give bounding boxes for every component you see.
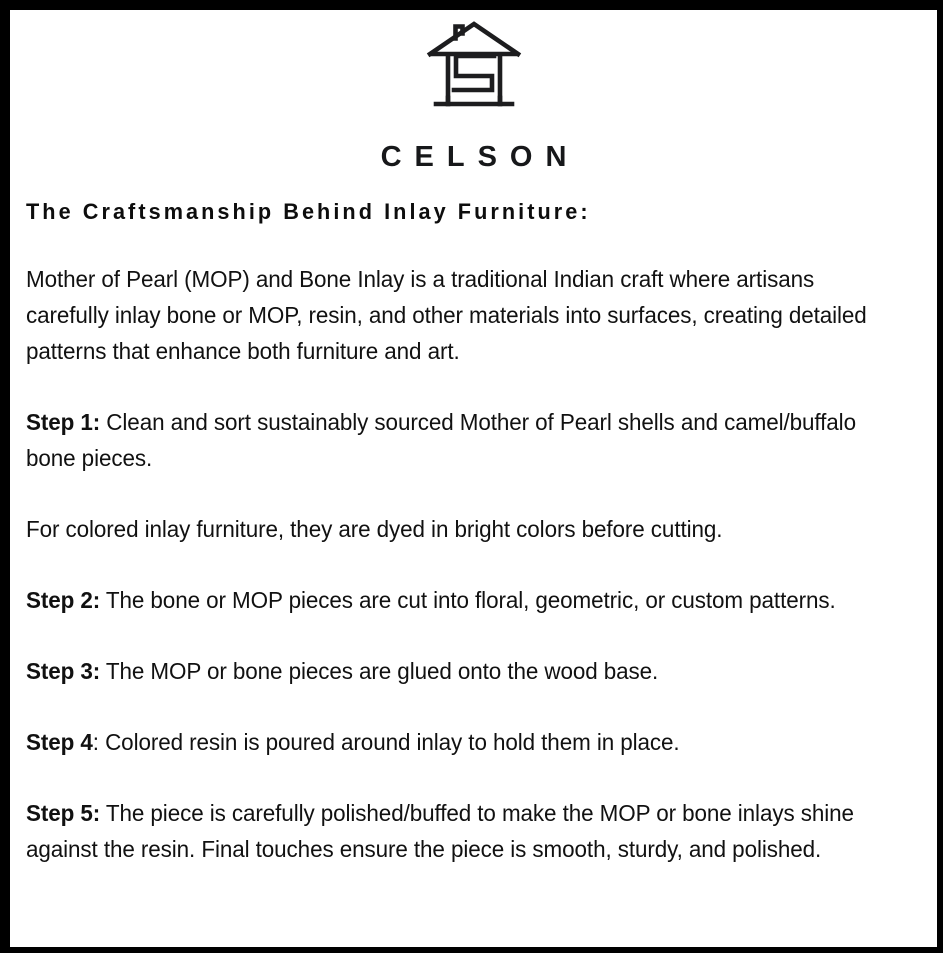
house-pillar-monogram-icon — [422, 18, 526, 122]
brand-header: CELSON — [10, 10, 937, 172]
poster-inner: CELSON The Craftsmanship Behind Inlay Fu… — [10, 10, 937, 947]
step-4-label: Step 4 — [26, 729, 93, 755]
step-4-text: : Colored resin is poured around inlay t… — [93, 729, 680, 755]
step-4-paragraph: Step 4: Colored resin is poured around i… — [26, 724, 872, 760]
intro-paragraph: Mother of Pearl (MOP) and Bone Inlay is … — [26, 261, 872, 369]
step-1-text: Clean and sort sustainably sourced Mothe… — [26, 409, 856, 471]
step-3-label: Step 3: — [26, 658, 100, 684]
step-1-label: Step 1: — [26, 409, 100, 435]
step-5-text: The piece is carefully polished/buffed t… — [26, 800, 854, 862]
poster-card: CELSON The Craftsmanship Behind Inlay Fu… — [0, 0, 943, 953]
step-5-paragraph: Step 5: The piece is carefully polished/… — [26, 795, 872, 867]
brand-name: CELSON — [10, 143, 937, 172]
step-2-paragraph: Step 2: The bone or MOP pieces are cut i… — [26, 582, 872, 618]
article-body: Mother of Pearl (MOP) and Bone Inlay is … — [26, 261, 912, 867]
step-5-label: Step 5: — [26, 800, 100, 826]
step-2-text: The bone or MOP pieces are cut into flor… — [100, 587, 835, 613]
step-3-paragraph: Step 3: The MOP or bone pieces are glued… — [26, 653, 872, 689]
step-1-paragraph: Step 1: Clean and sort sustainably sourc… — [26, 404, 872, 476]
step-2-label: Step 2: — [26, 587, 100, 613]
step-3-text: The MOP or bone pieces are glued onto th… — [100, 658, 658, 684]
page-title: The Craftsmanship Behind Inlay Furniture… — [26, 199, 923, 225]
colored-inlay-note: For colored inlay furniture, they are dy… — [26, 511, 872, 547]
